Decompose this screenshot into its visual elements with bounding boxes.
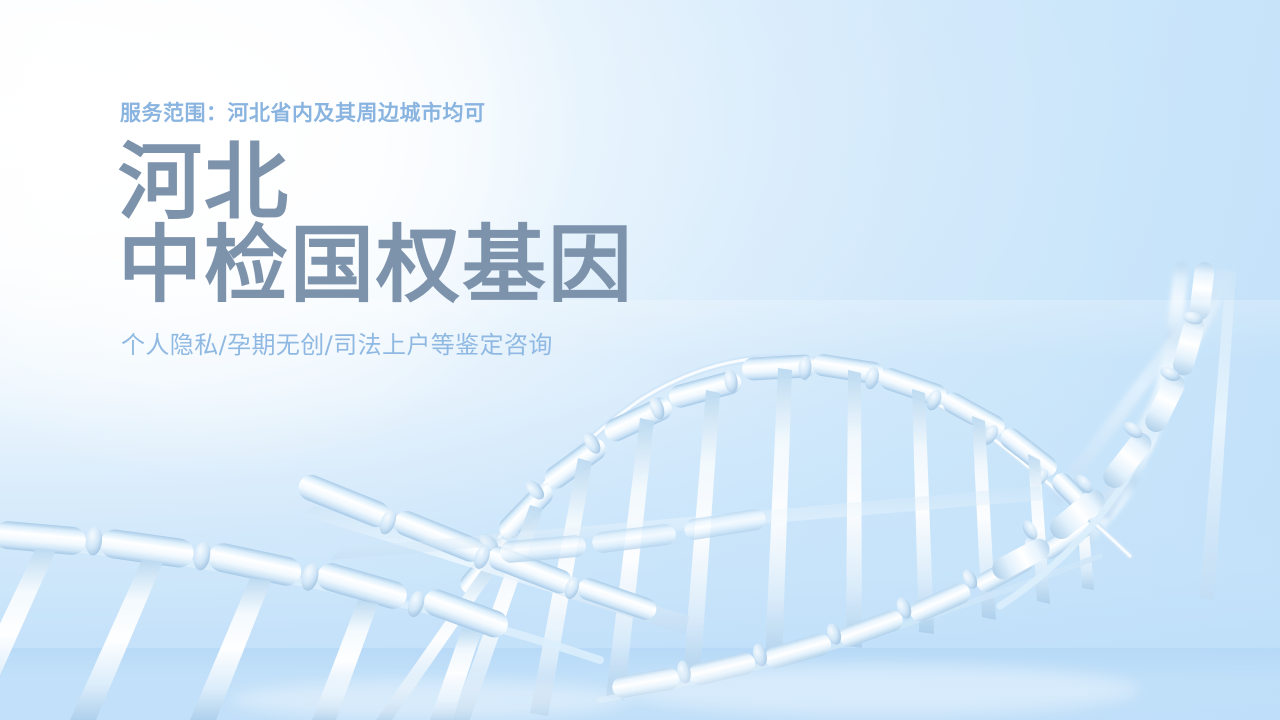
poster-canvas: 服务范围：河北省内及其周边城市均可 河北 中检国权基因 个人隐私/孕期无创/司法… bbox=[0, 0, 1280, 720]
page-title-line-2: 中检国权基因 bbox=[118, 224, 838, 307]
service-scope-label: 服务范围：河北省内及其周边城市均可 bbox=[120, 100, 838, 127]
services-tagline: 个人隐私/孕期无创/司法上户等鉴定咨询 bbox=[121, 330, 838, 361]
page-title-line-1: 河北 bbox=[118, 141, 838, 224]
background-floor-reflection bbox=[0, 648, 1280, 720]
page-title: 河北 中检国权基因 bbox=[118, 141, 838, 307]
headline-block: 服务范围：河北省内及其周边城市均可 河北 中检国权基因 个人隐私/孕期无创/司法… bbox=[118, 100, 838, 361]
